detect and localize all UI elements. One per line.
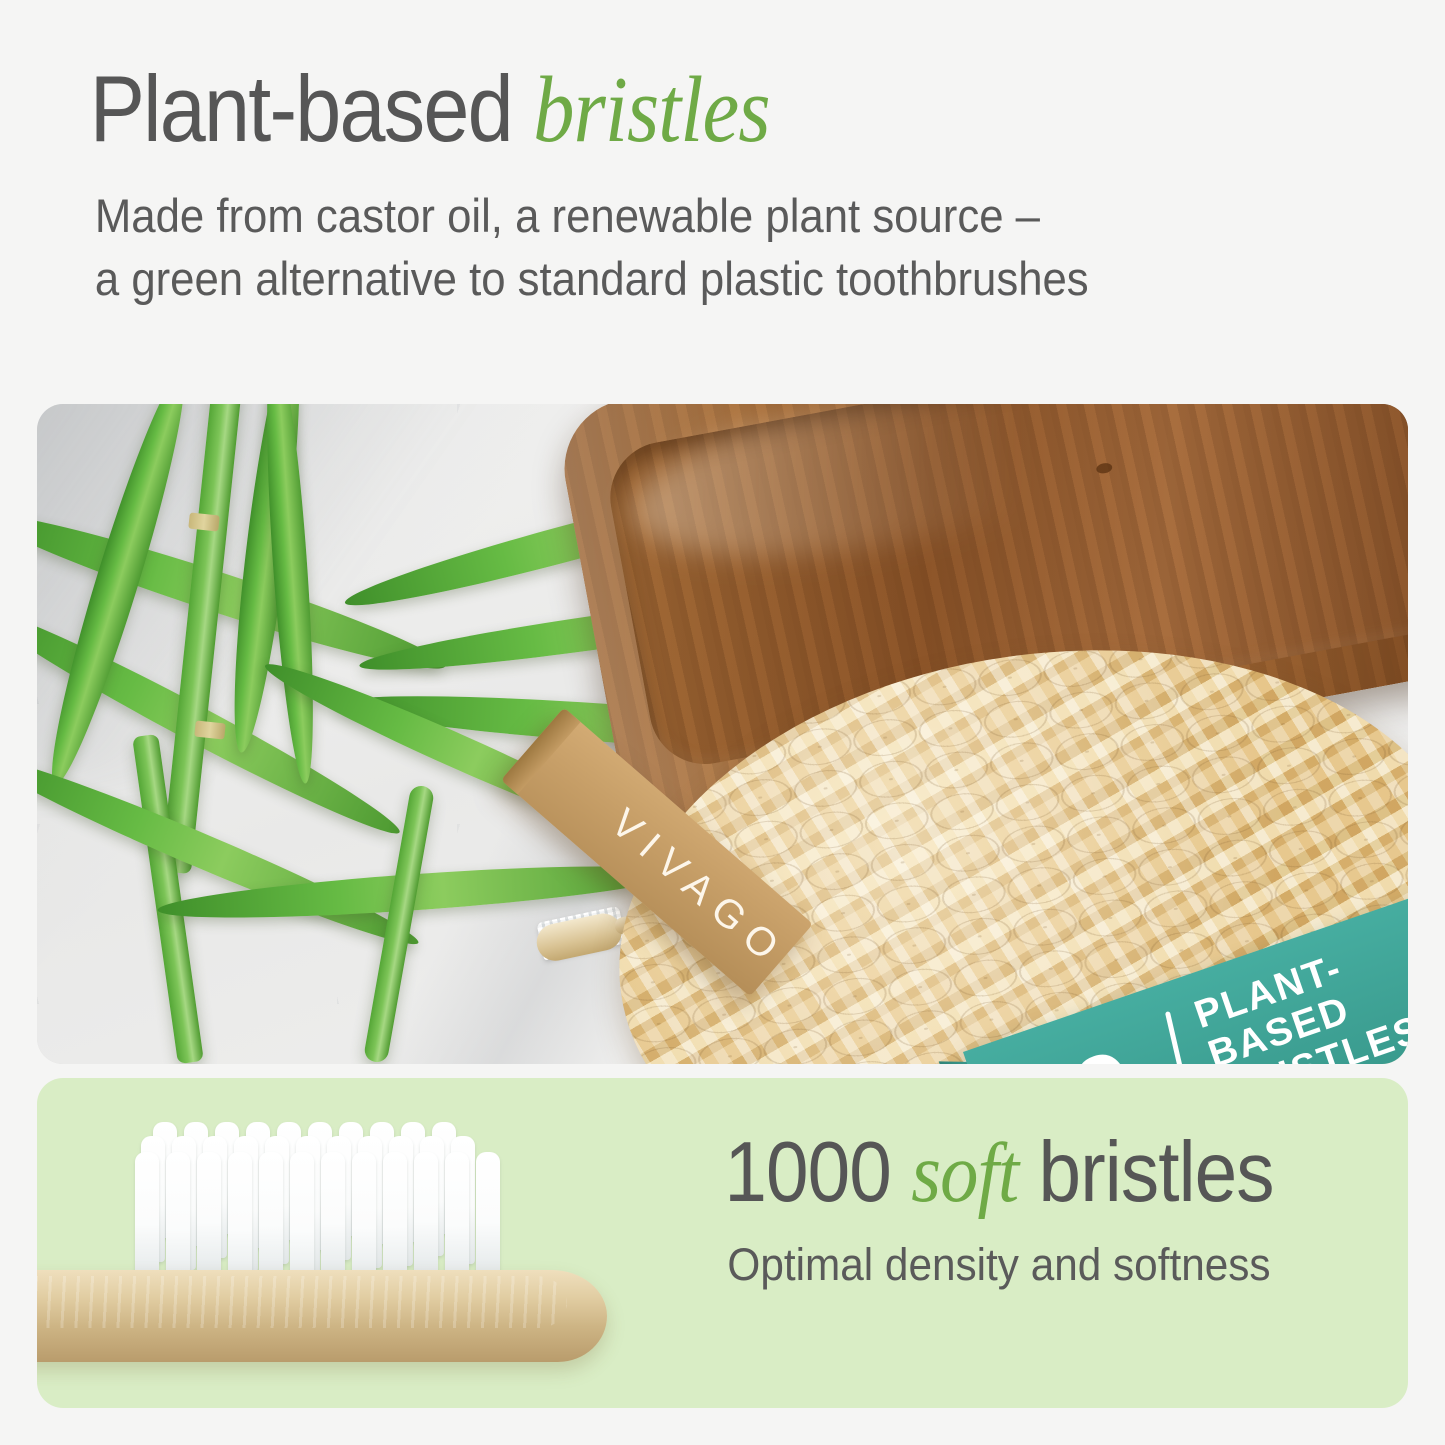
page-title-main: Plant-based xyxy=(90,56,533,161)
product-photo: 2 1 VIVAGO 10 PACK 10 PACK PLANT- BASED … xyxy=(37,404,1408,1064)
page-title-accent: bristles xyxy=(533,58,770,162)
pack-count: 10 xyxy=(1009,1038,1147,1064)
panel-headline: 1000 soft bristles xyxy=(639,1130,1359,1217)
bristle-feature-panel: 1000 soft bristles Optimal density and s… xyxy=(37,1078,1408,1408)
page-subtitle-line-2: a green alternative to standard plastic … xyxy=(95,248,1344,311)
page-subtitle-line-1: Made from castor oil, a renewable plant … xyxy=(95,189,1040,242)
panel-headline-pre: 1000 xyxy=(724,1125,911,1220)
panel-subtext: Optimal density and softness xyxy=(623,1239,1375,1291)
page-subtitle: Made from castor oil, a renewable plant … xyxy=(0,185,1344,311)
page-title: Plant-based bristles xyxy=(0,62,1272,157)
bristle-tufts xyxy=(135,1122,525,1290)
panel-text-block: 1000 soft bristles Optimal density and s… xyxy=(599,1130,1399,1291)
toothbrush-head-closeup xyxy=(37,1098,587,1408)
header-block: Plant-based bristles Made from castor oi… xyxy=(0,0,1445,311)
bamboo-plant xyxy=(37,404,597,1064)
toothbrush-bamboo-handle xyxy=(37,1270,607,1362)
panel-headline-accent: soft xyxy=(911,1126,1018,1220)
panel-headline-post: bristles xyxy=(1018,1125,1273,1220)
